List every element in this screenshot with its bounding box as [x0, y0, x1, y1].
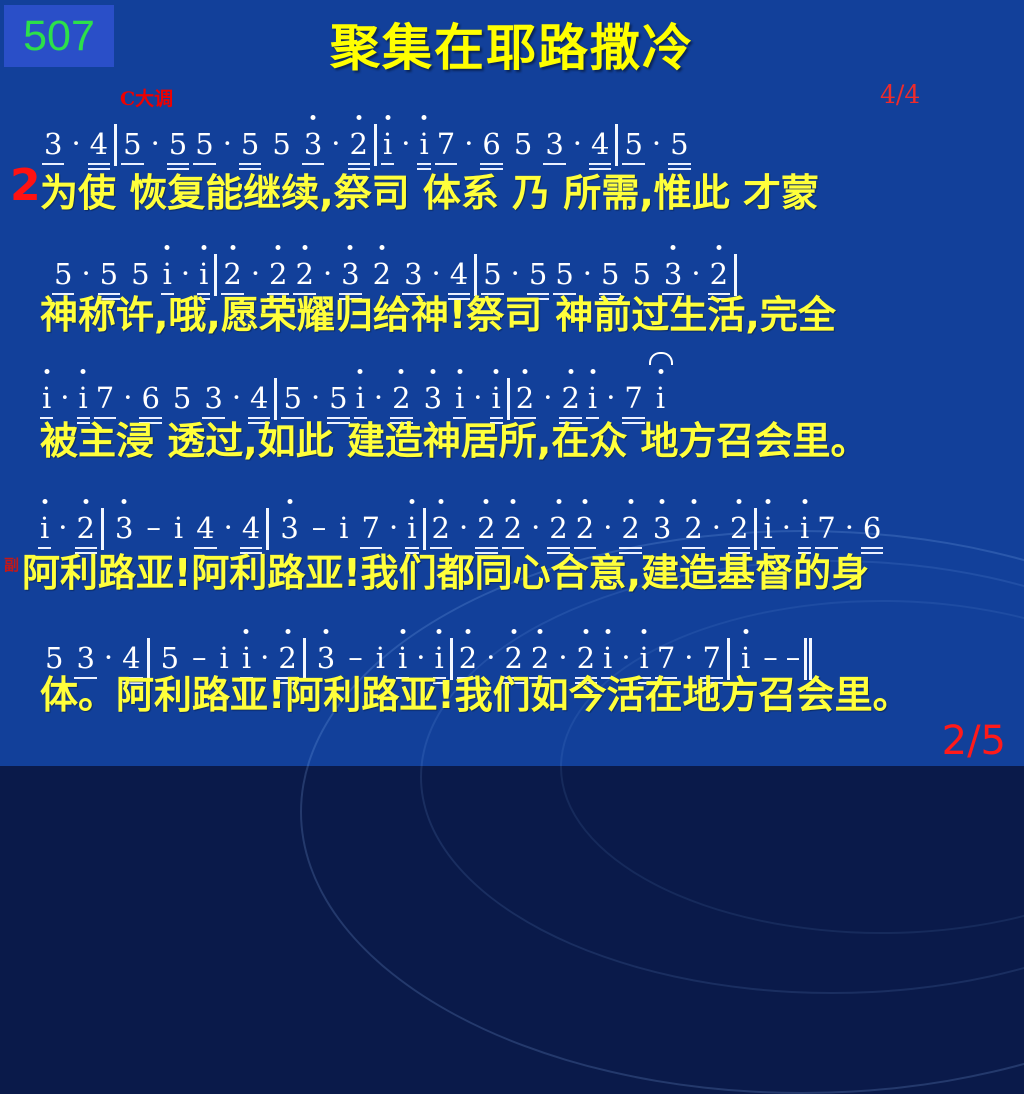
note: 5 [123, 128, 141, 160]
octave-dot-icon [658, 369, 663, 374]
octave-dot-icon [430, 369, 435, 374]
augmentation-dot: · [459, 126, 478, 160]
note: 5 [241, 128, 259, 160]
note: 6 [482, 128, 500, 160]
note: 5 [195, 128, 213, 160]
augmentation-dot: · [454, 510, 473, 544]
lyric-line: 阿利路亚!阿利路亚!我们都同心合意,建造基督的身 [22, 540, 1024, 598]
octave-dot-icon [737, 499, 742, 504]
augmentation-dot: · [598, 510, 617, 544]
octave-dot-icon [628, 499, 633, 504]
note: 5 [169, 128, 187, 160]
octave-dot-icon [511, 629, 516, 634]
note: 3 [545, 128, 563, 160]
octave-dot-icon [385, 115, 390, 120]
octave-dot-icon [802, 499, 807, 504]
duration-dash: – [308, 510, 331, 544]
octave-dot-icon [311, 115, 316, 120]
verse-number: 2 [10, 160, 41, 211]
octave-dot-icon [230, 245, 235, 250]
octave-dot-icon [583, 629, 588, 634]
octave-dot-icon [358, 369, 363, 374]
page-title: 聚集在耶路撒冷 [0, 8, 1024, 80]
octave-dot-icon [323, 629, 328, 634]
augmentation-dot: · [396, 126, 415, 160]
octave-dot-icon [590, 369, 595, 374]
chorus-marker: 副 [4, 554, 19, 575]
octave-dot-icon [605, 629, 610, 634]
octave-dot-icon [438, 499, 443, 504]
augmentation-dot: · [219, 510, 238, 544]
note: i [383, 128, 392, 160]
octave-dot-icon [400, 629, 405, 634]
octave-dot-icon [494, 369, 499, 374]
octave-dot-icon [556, 499, 561, 504]
notation-row: 3·45·55·553·2i·i7·653·45·5 [40, 104, 1024, 160]
octave-dot-icon [510, 499, 515, 504]
lyric-line: 为使 恢复能继续,祭司 体系 乃 所需,惟此 才蒙 [40, 160, 1024, 218]
augmentation-dot: · [53, 510, 72, 544]
notation-row: i·23–i4·43–i7·i2·22·22·232·2i·i7·6 [36, 488, 1024, 544]
octave-dot-icon [766, 499, 771, 504]
duration-dash: – [142, 510, 165, 544]
notation-row: i·i7·653·45·5i·23i·i2·2i·7i [38, 358, 1024, 414]
octave-dot-icon [285, 629, 290, 634]
octave-dot-icon [660, 499, 665, 504]
octave-dot-icon [466, 629, 471, 634]
octave-dot-icon [81, 369, 86, 374]
octave-dot-icon [457, 369, 462, 374]
decor-arc-1 [300, 530, 1024, 1094]
augmentation-dot: · [707, 510, 726, 544]
octave-dot-icon [348, 245, 353, 250]
octave-dot-icon [399, 369, 404, 374]
augmentation-dot: · [218, 126, 237, 160]
augmentation-dot: · [66, 126, 85, 160]
note: 2 [350, 128, 368, 160]
octave-dot-icon [379, 245, 384, 250]
augmentation-dot: · [526, 510, 545, 544]
lyric-line: 体。阿利路亚!阿利路亚!我们如今活在地方召会里。 [40, 662, 1024, 720]
octave-dot-icon [422, 115, 427, 120]
note: 5 [514, 128, 532, 160]
octave-dot-icon [523, 369, 528, 374]
note: 3 [304, 128, 322, 160]
octave-dot-icon [287, 499, 292, 504]
augmentation-dot: · [384, 510, 403, 544]
octave-dot-icon [671, 245, 676, 250]
octave-dot-icon [83, 499, 88, 504]
octave-dot-icon [484, 499, 489, 504]
octave-dot-icon [538, 629, 543, 634]
augmentation-dot: · [568, 126, 587, 160]
lyric-line: 神称许,哦,愿荣耀归给神!祭司 神前过生活,完全 [40, 282, 1024, 340]
augmentation-dot: · [647, 126, 666, 160]
octave-dot-icon [582, 499, 587, 504]
note: 5 [272, 128, 290, 160]
page-indicator: 2/5 [942, 718, 1006, 764]
octave-dot-icon [642, 629, 647, 634]
octave-dot-icon [356, 115, 361, 120]
octave-dot-icon [716, 245, 721, 250]
octave-dot-icon [244, 629, 249, 634]
octave-dot-icon [276, 245, 281, 250]
octave-dot-icon [122, 499, 127, 504]
note: 5 [624, 128, 642, 160]
octave-dot-icon [437, 629, 442, 634]
note: 7 [437, 128, 455, 160]
octave-dot-icon [409, 499, 414, 504]
note: 3 [44, 128, 62, 160]
octave-dot-icon [568, 369, 573, 374]
octave-dot-icon [165, 245, 170, 250]
note: i [419, 128, 428, 160]
lyric-line: 被主浸 透过,如此 建造神居所,在众 地方召会里。 [40, 408, 1024, 466]
augmentation-dot: · [840, 510, 859, 544]
augmentation-dot: · [326, 126, 345, 160]
slide-canvas: 507 聚集在耶路撒冷 C大调 4/4 2 副 3·45·55·553·2i·i… [0, 0, 1024, 766]
fermata-icon [649, 352, 673, 365]
augmentation-dot: · [146, 126, 165, 160]
augmentation-dot: · [777, 510, 796, 544]
octave-dot-icon [302, 245, 307, 250]
octave-dot-icon [44, 369, 49, 374]
octave-dot-icon [691, 499, 696, 504]
octave-dot-icon [743, 629, 748, 634]
note: 5 [670, 128, 688, 160]
octave-dot-icon [201, 245, 206, 250]
note: 4 [90, 128, 108, 160]
octave-dot-icon [42, 499, 47, 504]
note: 4 [591, 128, 609, 160]
